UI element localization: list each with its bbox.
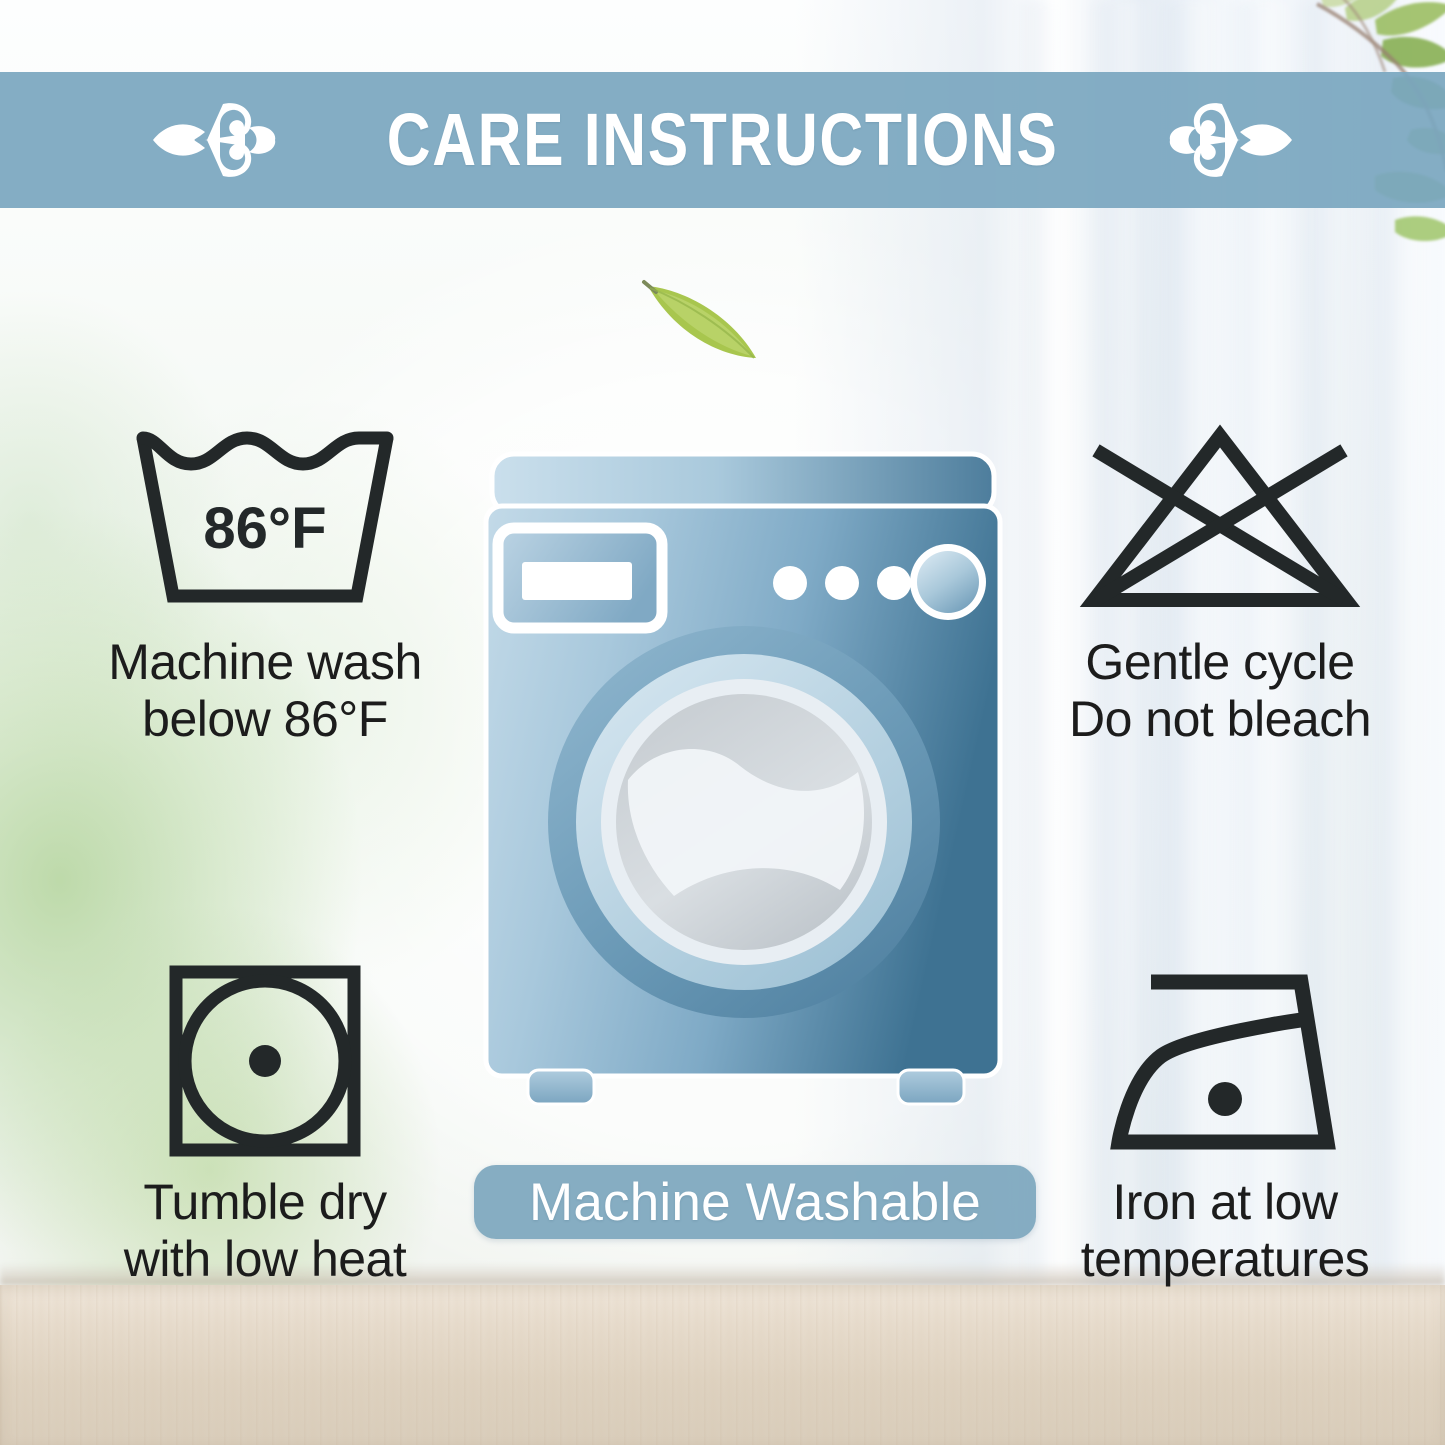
triangle-crossed-no-bleach-icon — [1070, 420, 1370, 620]
page-title: CARE INSTRUCTIONS — [387, 103, 1059, 177]
tumble-dry-square-icon — [160, 960, 370, 1160]
care-symbol-caption: Tumble dry with low heat — [124, 1174, 407, 1288]
header-banner: CARE INSTRUCTIONS — [0, 72, 1445, 208]
fleur-de-lis-ornament-left — [149, 98, 279, 182]
care-symbol-gentle-cycle-no-bleach: Gentle cycle Do not bleach — [1000, 420, 1440, 748]
care-symbol-caption: Gentle cycle Do not bleach — [1069, 634, 1371, 748]
indicator-light — [877, 566, 911, 600]
wash-temperature-value: 86°F — [203, 496, 326, 561]
washing-machine-illustration — [478, 450, 1008, 1135]
care-symbol-iron-low-temp: Iron at low temperatures — [1010, 960, 1440, 1288]
care-symbol-caption: Iron at low temperatures — [1081, 1174, 1370, 1288]
control-knob — [910, 544, 986, 620]
care-symbol-tumble-dry-low: Tumble dry with low heat — [35, 960, 495, 1288]
floating-leaf — [640, 272, 770, 372]
iron-one-dot-icon — [1105, 960, 1345, 1160]
wooden-table-surface — [0, 1285, 1445, 1445]
indicator-light — [825, 566, 859, 600]
fleur-de-lis-ornament-right — [1166, 98, 1296, 182]
machine-washable-badge: Machine Washable — [474, 1165, 1036, 1239]
care-symbol-caption: Machine wash below 86°F — [108, 634, 422, 748]
indicator-lights — [773, 566, 911, 600]
wash-tub-icon: 86°F — [115, 420, 415, 620]
indicator-light — [773, 566, 807, 600]
washer-door — [548, 626, 940, 1018]
detergent-drawer — [498, 528, 662, 628]
badge-label: Machine Washable — [529, 1176, 981, 1229]
care-symbol-machine-wash: 86°F Machine wash below 86°F — [30, 420, 500, 748]
care-instructions-graphic: CARE INSTRUCTIONS — [0, 0, 1445, 1445]
